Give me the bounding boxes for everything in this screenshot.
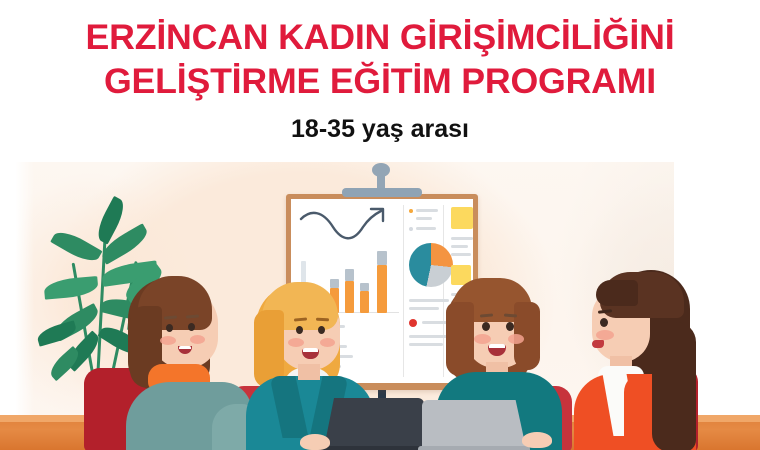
- eye-left: [296, 326, 303, 334]
- neck: [298, 364, 320, 380]
- page-title-line-1: ERZİNCAN KADIN GİRİŞİMCİLİĞİNİ: [0, 18, 760, 58]
- eye-left: [482, 322, 490, 331]
- page-title-line-2: GELİŞTİRME EĞİTİM PROGRAMI: [0, 62, 760, 102]
- page-subtitle: 18-35 yaş arası: [0, 114, 760, 144]
- hair-fringe: [596, 280, 638, 306]
- eye-right: [188, 323, 195, 331]
- bar-5-top: [377, 251, 387, 265]
- hand-typing-right: [522, 432, 552, 448]
- illustration-scene: [0, 150, 760, 450]
- ear: [206, 326, 218, 341]
- banner-header: ERZİNCAN KADIN GİRİŞİMCİLİĞİNİ GELİŞTİRM…: [0, 0, 760, 162]
- ear: [628, 320, 639, 334]
- whiteboard-clip-bar: [342, 188, 422, 197]
- red-dot-marker: [409, 319, 417, 327]
- mouth: [592, 340, 604, 348]
- eye-right: [506, 322, 514, 331]
- hand-typing-left: [300, 434, 330, 450]
- eye-left: [166, 324, 173, 332]
- eye: [600, 318, 608, 327]
- banner-image: ERZİNCAN KADIN GİRİŞİMCİLİĞİNİ GELİŞTİRM…: [0, 0, 760, 450]
- hair-side-left: [446, 302, 474, 376]
- eye-right: [318, 326, 325, 334]
- laptop-light: [418, 400, 530, 450]
- laptop-dark: [318, 398, 430, 450]
- woman-right-orange-cardigan: [568, 262, 728, 450]
- hair-long-strand: [652, 322, 696, 450]
- sticky-note-1: [451, 207, 473, 229]
- woman-left-brown-hair: [108, 272, 258, 450]
- growth-arrow-icon: [297, 205, 391, 247]
